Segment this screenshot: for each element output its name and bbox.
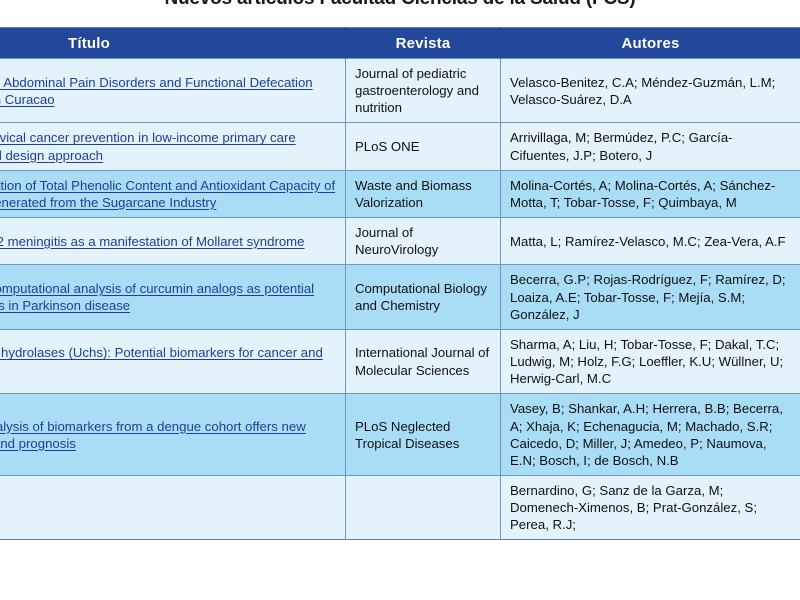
articles-table: Título Revista Autores Epidemiology of F… (0, 27, 800, 540)
table-row: Adaptive prototypes for cervical cancer … (0, 123, 800, 170)
cell-revista: PLoS ONE (346, 123, 501, 170)
table-row: Spectrophotometric Estimation of Total P… (0, 170, 800, 217)
page-root: Nuevos artículos Facultad Ciencias de la… (0, 0, 800, 600)
cell-titulo[interactable]: Structural and functional computational … (0, 265, 346, 329)
cell-revista: Journal of NeuroVirology (346, 218, 501, 265)
table-header: Título Revista Autores (0, 28, 800, 59)
table-row: Ubiquitin carboxyl-terminal hydrolases (… (0, 329, 800, 393)
cell-titulo[interactable]: Epidemiology of Functional Abdominal Pai… (0, 59, 346, 123)
table-row: Multivariate time-series analysis of bio… (0, 394, 800, 476)
cell-autores: Becerra, G.P; Rojas-Rodríguez, F; Ramíre… (501, 265, 800, 329)
cell-titulo[interactable]: Spectrophotometric Estimation of Total P… (0, 170, 346, 217)
cell-revista: Waste and Biomass Valorization (346, 170, 501, 217)
cell-titulo[interactable]: Herpes simplex virus type 2 meningitis a… (0, 218, 346, 265)
column-header-titulo[interactable]: Título (0, 28, 346, 59)
page-title: Nuevos artículos Facultad Ciencias de la… (0, 0, 800, 12)
cell-revista: Journal of pediatric gastroenterology an… (346, 59, 501, 123)
cell-autores: Bernardino, G; Sanz de la Garza, M; Dome… (501, 475, 800, 539)
cell-titulo[interactable]: Multivariate time-series analysis of bio… (0, 394, 346, 476)
table-row: Structural and functional computational … (0, 265, 800, 329)
cell-titulo[interactable]: Adaptive prototypes for cervical cancer … (0, 123, 346, 170)
cell-autores: Vasey, B; Shankar, A.H; Herrera, B.B; Be… (501, 394, 800, 476)
cell-revista (346, 475, 501, 539)
table-body: Epidemiology of Functional Abdominal Pai… (0, 59, 800, 540)
cell-autores: Arrivillaga, M; Bermúdez, P.C; García-Ci… (501, 123, 800, 170)
cell-titulo[interactable] (0, 475, 346, 539)
column-header-autores[interactable]: Autores (501, 28, 800, 59)
table-row: Bernardino, G; Sanz de la Garza, M; Dome… (0, 475, 800, 539)
cell-revista: International Journal of Molecular Scien… (346, 329, 501, 393)
articles-table-container: Título Revista Autores Epidemiology of F… (0, 27, 800, 540)
cell-autores: Sharma, A; Liu, H; Tobar-Tosse, F; Dakal… (501, 329, 800, 393)
table-row: Herpes simplex virus type 2 meningitis a… (0, 218, 800, 265)
cell-autores: Velasco-Benitez, C.A; Méndez-Guzmán, L.M… (501, 59, 800, 123)
column-header-revista[interactable]: Revista (346, 28, 501, 59)
table-header-row: Título Revista Autores (0, 28, 800, 59)
cell-revista: PLoS Neglected Tropical Diseases (346, 394, 501, 476)
cell-autores: Matta, L; Ramírez-Velasco, M.C; Zea-Vera… (501, 218, 800, 265)
cell-autores: Molina-Cortés, A; Molina-Cortés, A; Sánc… (501, 170, 800, 217)
table-row: Epidemiology of Functional Abdominal Pai… (0, 59, 800, 123)
cell-titulo[interactable]: Ubiquitin carboxyl-terminal hydrolases (… (0, 329, 346, 393)
cell-revista: Computational Biology and Chemistry (346, 265, 501, 329)
